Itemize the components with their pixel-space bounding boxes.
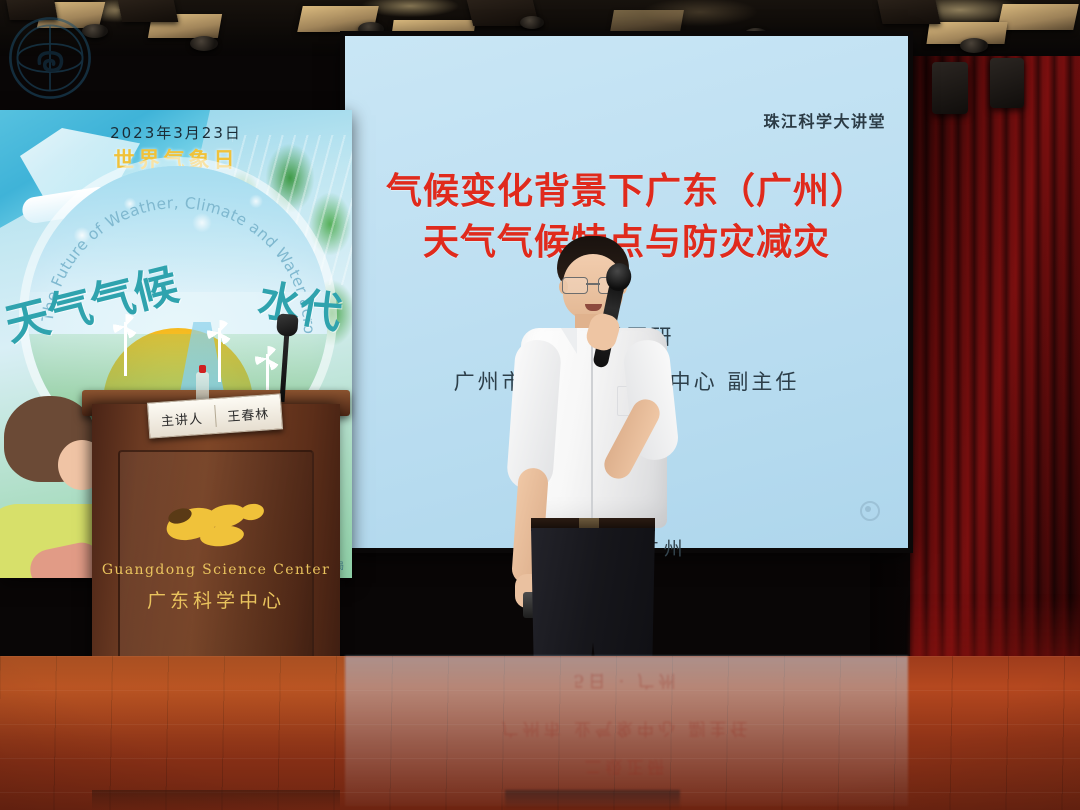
reflection-line-3: 二级正研 — [345, 756, 908, 781]
nameplate-role-label: 主讲人 — [148, 407, 215, 431]
ceiling-spotlight — [960, 38, 988, 53]
shirt-collar-left — [561, 328, 577, 354]
screen-corner-logo-icon — [860, 501, 880, 521]
ceiling-panel — [997, 4, 1079, 30]
podium-name-cn: 广东科学中心 — [92, 586, 340, 613]
screen-reflection: 5日 · 广州 广州市 业气象中心 副主任 二级正研 — [345, 656, 908, 806]
speaker-reflection — [505, 790, 680, 810]
ceiling-spotlight — [358, 22, 384, 36]
screen-title-line-1: 气候变化背景下广东（广州） — [345, 166, 908, 217]
hanging-speaker — [932, 62, 968, 114]
lecture-hall-photo: 珠江科学大讲堂 气候变化背景下广东（广州） 天气气候特点与防灾减灾 二级正研 广… — [0, 0, 1080, 810]
podium-reflection — [92, 790, 340, 810]
shirt-placket — [591, 340, 593, 522]
poster-date: 2023年3月23日 — [0, 122, 352, 143]
glasses-bridge — [586, 283, 600, 285]
ceiling-panel — [877, 0, 940, 24]
podium-name-en: Guangdong Science Center — [92, 562, 340, 578]
ceiling-panel — [118, 0, 179, 22]
lens-left — [562, 277, 588, 294]
meteorological-emblem-watermark-icon — [6, 14, 94, 102]
stage-curtain — [910, 56, 1080, 666]
ceiling-panel — [610, 10, 684, 32]
ceiling-spotlight — [520, 16, 544, 29]
reflection-line-2: 广州市 业气象中心 副主任 — [345, 718, 908, 743]
hanging-speaker — [990, 58, 1024, 108]
screen-header-label: 珠江科学大讲堂 — [763, 108, 886, 132]
reflection-line-1: 5日 · 广州 — [345, 670, 908, 695]
podium-logo-icon — [92, 496, 340, 557]
nameplate-speaker-name: 王春林 — [215, 402, 282, 426]
ceiling-spotlight — [190, 36, 218, 51]
floor-left-glow — [0, 656, 345, 806]
